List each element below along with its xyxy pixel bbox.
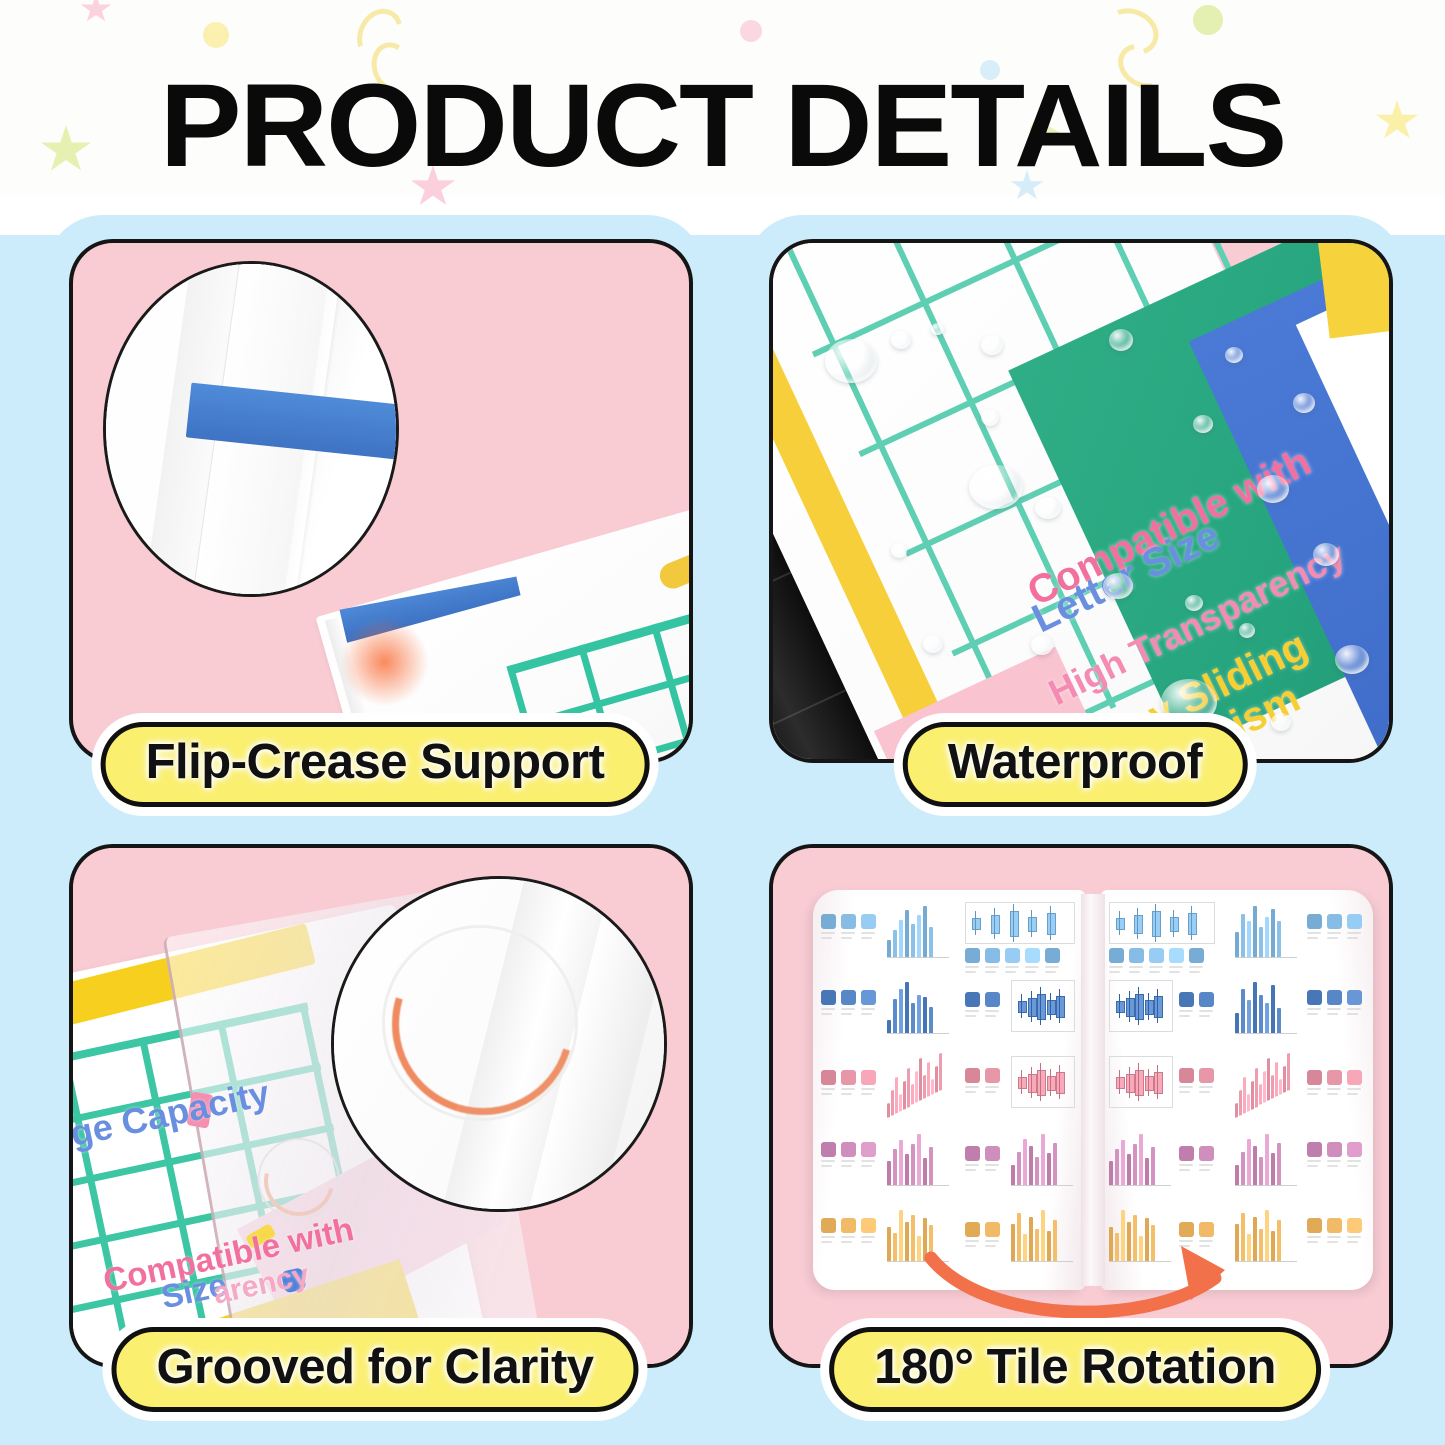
card-label-pill: Grooved for Clarity bbox=[111, 1327, 638, 1412]
card-body bbox=[769, 844, 1393, 1368]
water-droplet-icon bbox=[1239, 623, 1255, 638]
water-droplet-icon bbox=[969, 465, 1023, 509]
mini-3d-surface-chart bbox=[1235, 1048, 1297, 1117]
water-droplet-icon bbox=[891, 543, 907, 558]
water-droplet-icon bbox=[1193, 415, 1213, 433]
magnifier-circle-icon bbox=[103, 261, 399, 597]
infographic-root: PRODUCT DETAILS bbox=[0, 0, 1445, 1445]
water-droplet-icon bbox=[825, 339, 877, 383]
feature-card-grid: Flip-Crease Support bbox=[0, 205, 1445, 1410]
book-chart-row bbox=[1107, 1052, 1367, 1118]
waterproof-scene: Compatible with Letter Size High Transpa… bbox=[773, 243, 1389, 759]
water-droplet-icon bbox=[981, 335, 1003, 355]
water-droplet-icon bbox=[1103, 573, 1133, 599]
card-label-text: 180° Tile Rotation bbox=[874, 1340, 1276, 1394]
water-droplet-icon bbox=[1035, 497, 1061, 519]
mini-bar-chart bbox=[1235, 1134, 1297, 1186]
mini-bar-chart bbox=[1109, 1134, 1171, 1186]
water-droplet-icon bbox=[923, 635, 943, 653]
magnifier-circle-icon bbox=[331, 876, 667, 1212]
book-chart-row bbox=[819, 900, 1079, 966]
mini-box-plot bbox=[965, 902, 1075, 944]
mini-bar-chart bbox=[1235, 906, 1297, 958]
water-droplet-icon bbox=[1257, 475, 1289, 503]
mini-box-plot bbox=[1109, 902, 1215, 944]
card-label-pill: Waterproof bbox=[903, 722, 1248, 807]
mini-3d-surface-chart bbox=[887, 1048, 949, 1117]
book-chart-row bbox=[819, 976, 1079, 1042]
mini-box-plot bbox=[1109, 980, 1173, 1032]
rotated-folder-group bbox=[773, 243, 1389, 759]
card-label-pill: 180° Tile Rotation bbox=[829, 1327, 1321, 1412]
water-droplet-icon bbox=[1031, 635, 1053, 655]
mini-bar-chart bbox=[887, 1134, 949, 1186]
page-title: PRODUCT DETAILS bbox=[0, 58, 1445, 194]
feature-card-tile-rotation[interactable]: 180° Tile Rotation bbox=[745, 820, 1405, 1380]
feature-card-grooved[interactable]: rge Capacity Compatible with Size arency… bbox=[45, 820, 705, 1380]
feature-card-flip-crease[interactable]: Flip-Crease Support bbox=[45, 215, 705, 775]
feature-card-waterproof[interactable]: Compatible with Letter Size High Transpa… bbox=[745, 215, 1405, 775]
mini-bar-chart bbox=[887, 906, 949, 958]
card-label-text: Waterproof bbox=[948, 735, 1203, 789]
mini-bar-chart bbox=[887, 982, 949, 1034]
water-droplet-icon bbox=[1313, 543, 1339, 566]
book-chart-row bbox=[1107, 900, 1367, 966]
book-chart-row bbox=[1107, 1128, 1367, 1194]
rotation-arrow-icon bbox=[923, 1218, 1263, 1328]
grooved-scene: rge Capacity Compatible with Size arency bbox=[73, 848, 689, 1364]
water-droplet-icon bbox=[1109, 329, 1133, 351]
tile-rotation-scene bbox=[773, 848, 1389, 1364]
water-droplet-icon bbox=[1225, 347, 1243, 363]
mini-bar-chart bbox=[1235, 982, 1297, 1034]
book-chart-row bbox=[1107, 976, 1367, 1042]
book-chart-row bbox=[819, 1052, 1079, 1118]
card-label-text: Flip-Crease Support bbox=[146, 735, 605, 789]
mini-bar-chart bbox=[1011, 1134, 1073, 1186]
card-label-text: Grooved for Clarity bbox=[156, 1340, 593, 1394]
mini-box-plot bbox=[1109, 1056, 1173, 1108]
water-droplet-icon bbox=[931, 323, 944, 335]
mini-box-plot bbox=[1011, 980, 1075, 1032]
water-droplet-icon bbox=[981, 409, 999, 426]
card-body: Compatible with Letter Size High Transpa… bbox=[769, 239, 1393, 763]
water-droplet-icon bbox=[891, 331, 911, 349]
card-body bbox=[69, 239, 693, 763]
water-droplet-icon bbox=[1271, 713, 1291, 731]
book-chart-row bbox=[819, 1128, 1079, 1194]
water-droplet-icon bbox=[1161, 679, 1217, 725]
water-droplet-icon bbox=[1293, 393, 1315, 413]
card-body: rge Capacity Compatible with Size arency bbox=[69, 844, 693, 1368]
card-label-pill: Flip-Crease Support bbox=[101, 722, 650, 807]
water-droplet-icon bbox=[1185, 595, 1203, 611]
mini-box-plot bbox=[1011, 1056, 1075, 1108]
water-droplet-icon bbox=[1335, 645, 1369, 674]
